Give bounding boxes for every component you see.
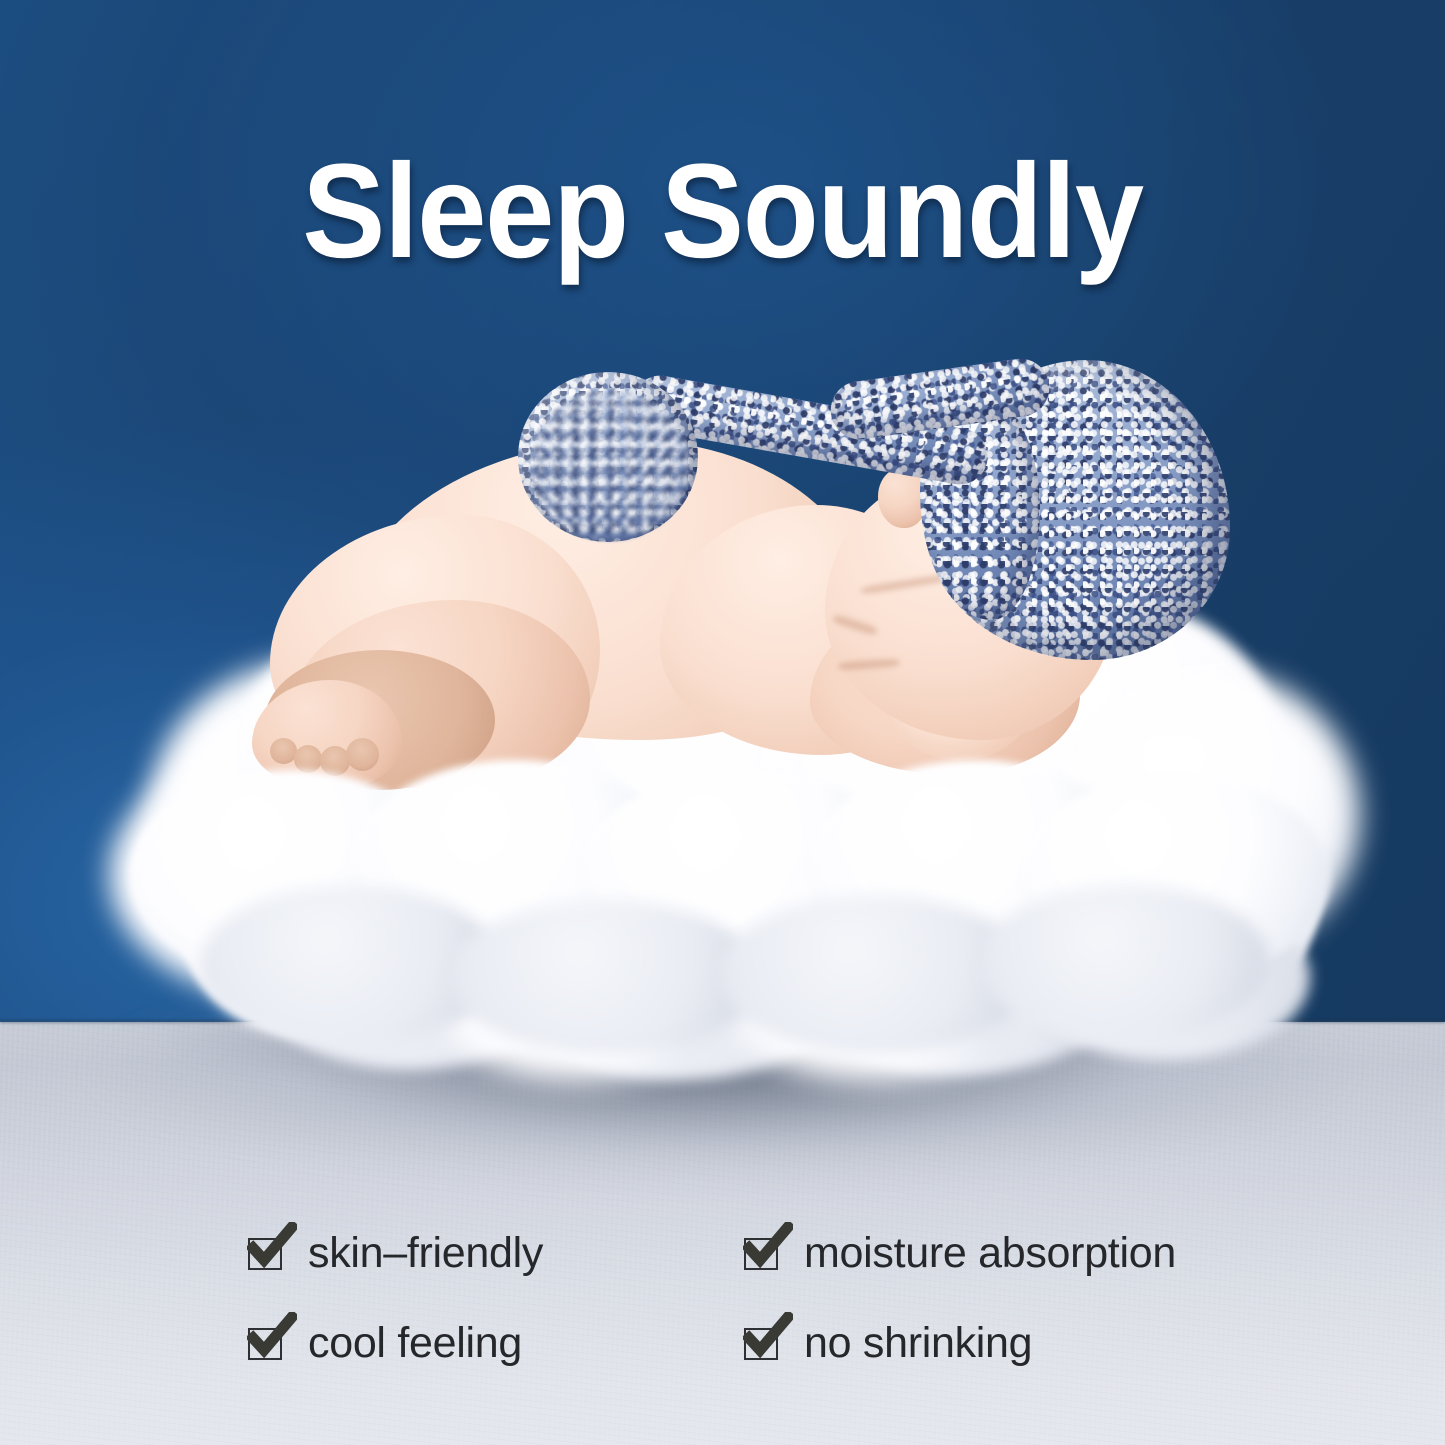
checkbox-checked-icon[interactable] [248,1236,288,1272]
checkbox-checked-icon[interactable] [744,1236,784,1272]
checkbox-box [248,1238,282,1270]
checklist-label: moisture absorption [804,1232,1176,1275]
sleeping-baby [230,350,1220,830]
checklist-item[interactable]: moisture absorption [744,1232,1176,1275]
pom-pom-fringe [530,390,690,540]
page-title: Sleep Soundly [51,140,1395,285]
checkbox-checked-icon[interactable] [248,1326,288,1362]
cotton-cloud-front [120,760,1350,1060]
checklist-label: no shrinking [804,1322,1032,1365]
checklist-label: cool feeling [308,1322,522,1365]
checkbox-checked-icon[interactable] [744,1326,784,1362]
checklist-label: skin–friendly [308,1232,543,1275]
checklist-item[interactable]: no shrinking [744,1322,1032,1365]
checklist-item[interactable]: skin–friendly [248,1232,543,1275]
checkbox-box [744,1328,778,1360]
checkbox-box [248,1328,282,1360]
product-infographic: Sleep Soundly [0,0,1445,1445]
checklist-item[interactable]: cool feeling [248,1322,522,1365]
checkbox-box [744,1238,778,1270]
feature-checklist: skin–friendly moisture absorption cool f… [0,1210,1445,1400]
